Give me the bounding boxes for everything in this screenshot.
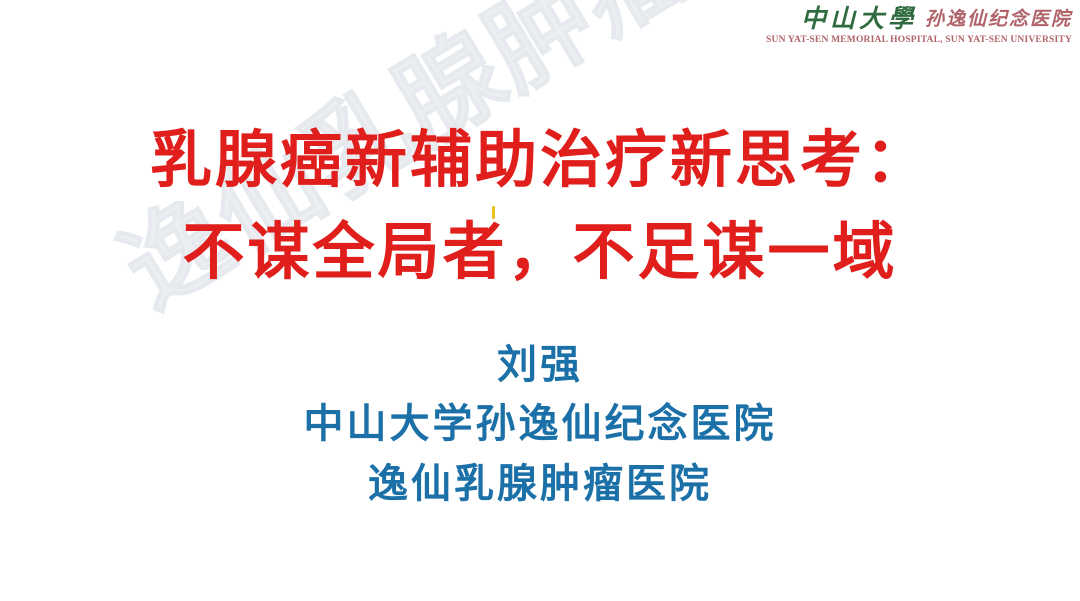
presenter-name: 刘强 (0, 336, 1080, 394)
title-line-2: 不谋全局者，不足谋一域 (0, 206, 1080, 298)
logo-chinese-row: 中山大學 孙逸仙纪念医院 (766, 6, 1072, 31)
presentation-slide: 逸仙乳腺肿瘤医院 中山大學 孙逸仙纪念医院 SUN YAT-SEN MEMORI… (0, 0, 1080, 601)
yellow-tick-artifact (492, 206, 495, 219)
institution-logo: 中山大學 孙逸仙纪念医院 SUN YAT-SEN MEMORIAL HOSPIT… (766, 6, 1072, 46)
logo-english-subtitle: SUN YAT-SEN MEMORIAL HOSPITAL, SUN YAT-S… (766, 36, 1072, 46)
affiliation-line-2: 逸仙乳腺肿瘤医院 (0, 454, 1080, 514)
slide-title: 乳腺癌新辅助治疗新思考： 不谋全局者，不足谋一域 (0, 114, 1080, 298)
title-line-1: 乳腺癌新辅助治疗新思考： (0, 114, 1080, 206)
affiliation-line-1: 中山大学孙逸仙纪念医院 (0, 394, 1080, 454)
presenter-info: 刘强 中山大学孙逸仙纪念医院 逸仙乳腺肿瘤医院 (0, 336, 1080, 514)
logo-hospital-name-cn: 孙逸仙纪念医院 (925, 10, 1072, 31)
logo-university-name-cn: 中山大學 (801, 6, 917, 31)
